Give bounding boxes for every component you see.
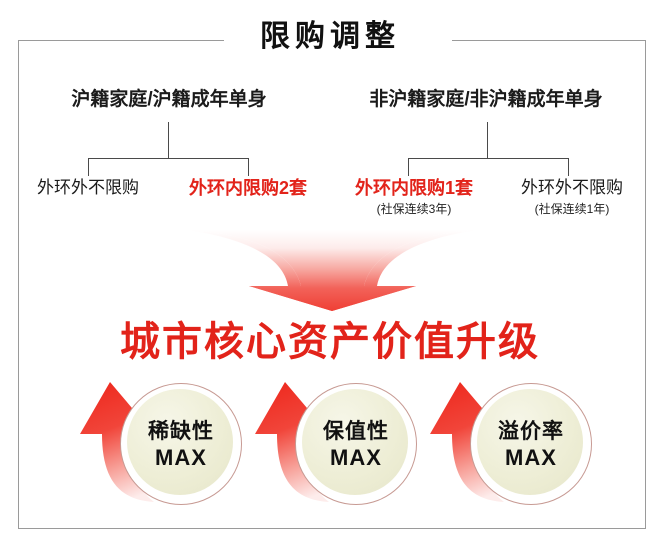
funnel-down-arrow-icon	[185, 228, 480, 313]
connector-leg-left-one	[88, 158, 89, 176]
policy-item-outer-ring-local: 外环外不限购	[12, 176, 164, 200]
feature-badge-value-retention: 保值性 MAX	[233, 378, 423, 518]
policy-item-text: 外环外不限购	[494, 176, 650, 200]
policy-item-text: 外环内限购2套	[166, 176, 330, 200]
badge-label: 保值性	[323, 418, 389, 445]
policy-item-outer-ring-nonlocal: 外环外不限购 (社保连续1年)	[494, 176, 650, 218]
connector-leg-right-one	[408, 158, 409, 176]
badge-max-value: MAX	[330, 445, 382, 471]
policy-item-note: (社保连续1年)	[494, 200, 650, 218]
badge-max-value: MAX	[155, 445, 207, 471]
frame-left-border	[18, 40, 19, 529]
poster-canvas: 限购调整 沪籍家庭/沪籍成年单身 非沪籍家庭/非沪籍成年单身 外环外不限购 外环…	[0, 0, 660, 550]
policy-item-text: 外环内限购1套	[332, 176, 496, 200]
badge-circle: 溢价率 MAX	[470, 383, 592, 505]
connector-stem-right	[487, 122, 488, 159]
policy-item-inner-ring-nonlocal: 外环内限购1套 (社保连续3年)	[332, 176, 496, 218]
connector-hbar-right	[408, 158, 569, 159]
feature-badge-scarcity: 稀缺性 MAX	[58, 378, 248, 518]
page-title: 限购调整	[0, 17, 660, 57]
group-heading-nonlocal: 非沪籍家庭/非沪籍成年单身	[330, 84, 642, 111]
badge-max-value: MAX	[505, 445, 557, 471]
group-heading-local: 沪籍家庭/沪籍成年单身	[28, 84, 310, 111]
badge-label: 溢价率	[498, 418, 564, 445]
frame-right-border	[645, 40, 646, 529]
connector-leg-right-two	[568, 158, 569, 176]
badge-text-group: 溢价率 MAX	[470, 383, 592, 505]
policy-item-note: (社保连续3年)	[332, 200, 496, 218]
badge-circle: 稀缺性 MAX	[120, 383, 242, 505]
connector-hbar-left	[88, 158, 249, 159]
policy-item-text: 外环外不限购	[12, 176, 164, 200]
feature-badge-premium-rate: 溢价率 MAX	[408, 378, 598, 518]
connector-stem-left	[168, 122, 169, 159]
badge-text-group: 稀缺性 MAX	[120, 383, 242, 505]
headline-text: 城市核心资产价值升级	[0, 316, 660, 368]
badge-label: 稀缺性	[148, 418, 214, 445]
policy-item-inner-ring-local: 外环内限购2套	[166, 176, 330, 200]
badge-text-group: 保值性 MAX	[295, 383, 417, 505]
frame-bottom-border	[18, 528, 646, 529]
badge-circle: 保值性 MAX	[295, 383, 417, 505]
connector-leg-left-two	[248, 158, 249, 176]
